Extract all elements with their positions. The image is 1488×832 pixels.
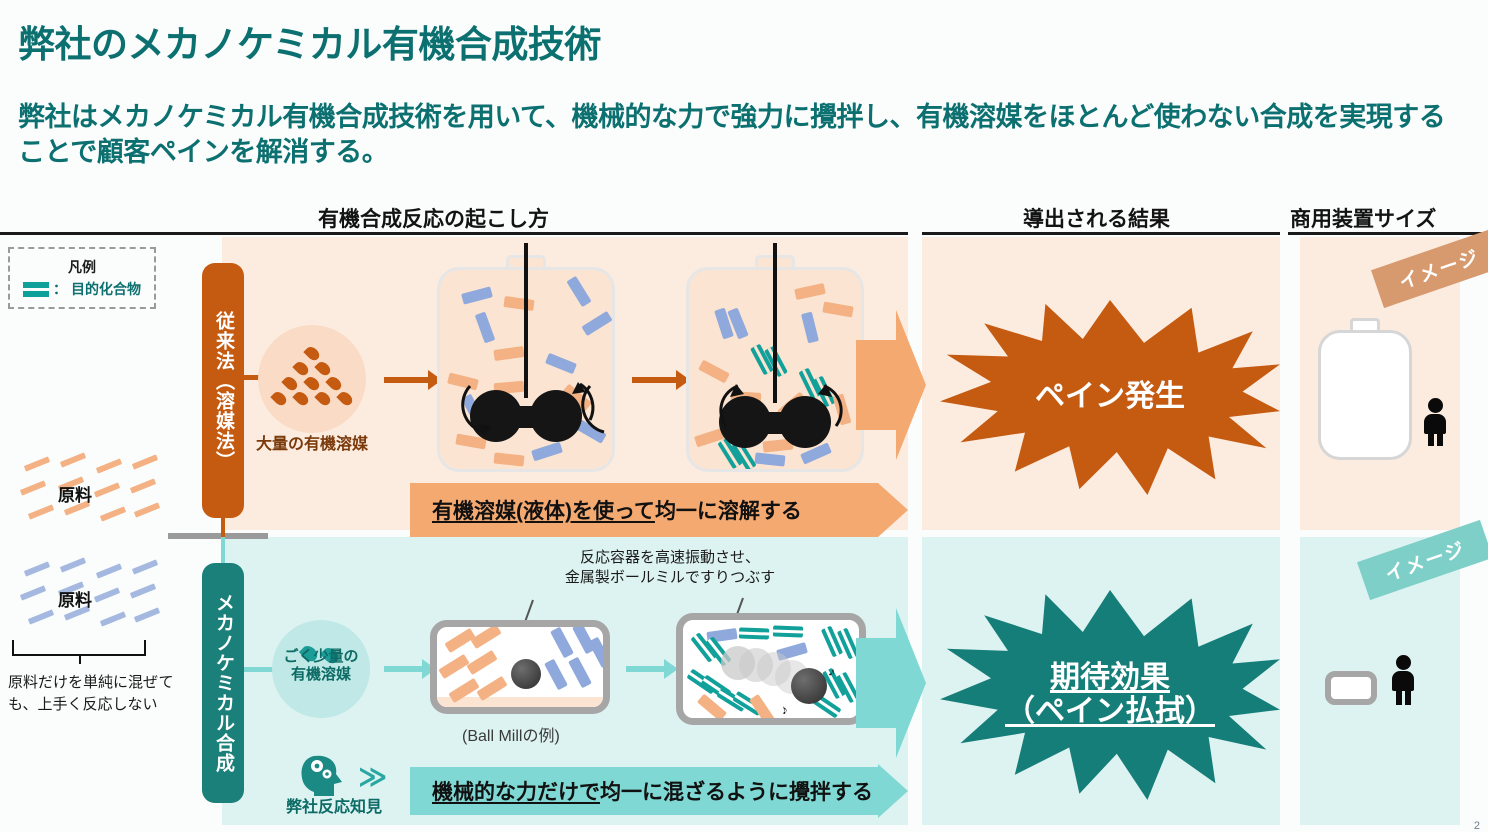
commercial-vessel-neck [1350, 318, 1380, 330]
result-burst-conventional-label: ペイン発生 [1035, 380, 1185, 415]
method-tab-mechanochemical[interactable]: メカノケミカル合成 [202, 563, 244, 803]
person-pictogram-top [1418, 398, 1450, 446]
knowledge-chevron-icon: ≫ [358, 760, 387, 793]
result-burst-mechano-label: 期待効果 （ペイン払拭） [1005, 661, 1215, 730]
row-divider [168, 533, 268, 539]
commercial-device-small [1325, 671, 1377, 705]
raw-material-bottom-label: 原料 [58, 586, 92, 611]
stirrer-shaft-1 [524, 243, 528, 398]
conventional-arrow-2 [632, 377, 678, 383]
conventional-process-banner: 有機溶媒(液体)を使って均一に溶解する [410, 483, 908, 537]
mechano-banner-rest: 均一に混ざるように攪拌する [600, 776, 873, 806]
mill-ball-2 [791, 668, 827, 704]
mechano-banner-underlined: 機械的な力だけで [432, 776, 600, 806]
mechano-connector [244, 667, 274, 672]
mechano-tab-stem [221, 537, 225, 565]
ball-mill-note-line2: 金属製ボールミルですりつぶす [520, 568, 820, 588]
flow-arrow-to-mechano-result [856, 608, 926, 758]
flow-arrow-to-conventional-result [856, 310, 926, 460]
column-header-result: 導出される結果 [1023, 203, 1170, 233]
raw-material-note: 原料だけを単純に混ぜても、上手く反応しない [8, 672, 188, 716]
mechano-arrow-1 [384, 666, 424, 672]
legend-row: ： 目的化合物 [23, 279, 141, 299]
person-pictogram-bottom [1386, 655, 1418, 705]
conventional-banner-underlined: 有機溶媒(液体)を使って [432, 495, 655, 525]
rule-result [922, 232, 1280, 235]
raw-material-bottom-cluster: 原料 [20, 560, 170, 635]
raw-material-top-label: 原料 [58, 481, 92, 506]
conventional-arrow-1 [384, 377, 430, 383]
ball-mill-note-line1: 反応容器を高速振動させ、 [520, 548, 820, 568]
page-title: 弊社のメカノケミカル有機合成技術 [18, 14, 601, 68]
ball-mill-caption: (Ball Millの例) [462, 722, 560, 746]
result-burst-mechano-line2: （ペイン払拭） [1005, 695, 1215, 728]
slide-root: 弊社のメカノケミカル有機合成技術 弊社はメカノケミカル有機合成技術を用いて、機械… [0, 0, 1488, 832]
raw-material-bracket [12, 640, 146, 656]
legend-title: 凡例 [68, 257, 96, 277]
mechano-process-banner: 機械的な力だけで均一に混ざるように攪拌する [410, 767, 908, 815]
ball-mill-note: 反応容器を高速振動させ、 金属製ボールミルですりつぶす [520, 548, 820, 589]
page-subtitle: 弊社はメカノケミカル有機合成技術を用いて、機械的な力で強力に攪拌し、有機溶媒をほ… [18, 100, 1468, 169]
rule-process [0, 232, 908, 235]
column-header-device-size: 商用装置サイズ [1290, 203, 1436, 233]
column-header-process: 有機合成反応の起こし方 [318, 203, 549, 233]
stirrer-shaft-2 [773, 243, 777, 403]
legend-separator: ： [53, 279, 67, 299]
small-solvent-caption: ごく少量の 有機溶媒 [272, 648, 370, 684]
rule-device-size [1288, 232, 1488, 235]
ball-mill-2: ♪ ♪ [676, 613, 866, 725]
commercial-vessel-large [1318, 330, 1412, 460]
knowledge-head-gear-icon [300, 752, 352, 796]
small-solvent-caption-line1: ごく少量の [272, 648, 370, 666]
method-tab-conventional[interactable]: 従来法（溶媒法） [202, 263, 244, 518]
conventional-banner-rest: 均一に溶解する [655, 495, 802, 525]
small-solvent-caption-line2: 有機溶媒 [272, 666, 370, 684]
target-compound-swatch-icon [23, 282, 49, 297]
legend-box: 凡例 ： 目的化合物 [8, 247, 156, 309]
rotation-arrows-2 [690, 382, 870, 462]
raw-material-top-cluster: 原料 [20, 455, 170, 530]
mill-ball-1 [511, 659, 541, 689]
conventional-banner-tip [878, 483, 908, 537]
ball-mill-1 [430, 620, 610, 714]
large-solvent-icon [258, 325, 366, 433]
legend-item-label: 目的化合物 [71, 279, 141, 299]
knowledge-label: 弊社反応知見 [286, 793, 382, 817]
mechano-banner-tip [878, 764, 908, 818]
result-burst-mechano-line1: 期待効果 [1050, 661, 1170, 694]
large-solvent-caption: 大量の有機溶媒 [252, 435, 372, 454]
mechano-arrow-2 [626, 666, 666, 672]
page-number: 2 [1474, 820, 1480, 832]
rotation-arrows-1 [440, 380, 620, 460]
